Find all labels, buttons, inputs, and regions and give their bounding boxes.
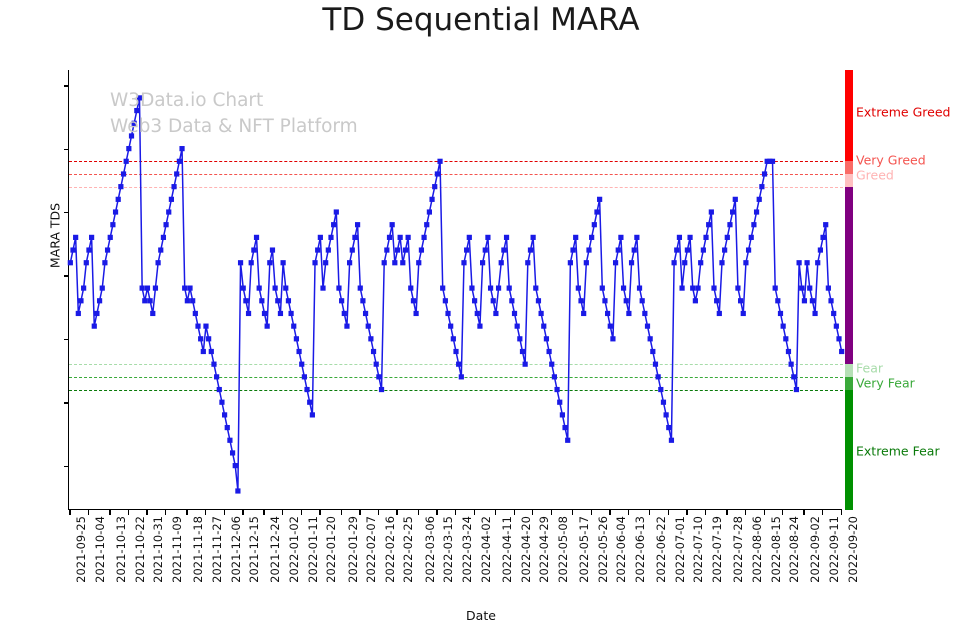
x-tick-label: 2022-08-06 bbox=[750, 516, 764, 583]
data-point-marker bbox=[749, 235, 754, 240]
data-point-marker bbox=[533, 286, 538, 291]
data-point-marker bbox=[632, 247, 637, 252]
data-point-marker bbox=[520, 349, 525, 354]
plot-inner: W3Data.io Chart Web3 Data & NFT Platform bbox=[69, 70, 842, 509]
data-point-marker bbox=[76, 311, 81, 316]
x-tick-label: 2021-11-09 bbox=[170, 516, 184, 583]
sentiment-label-very-fear: Very Fear bbox=[856, 376, 915, 391]
data-point-marker bbox=[485, 235, 490, 240]
page-title: TD Sequential MARA bbox=[0, 2, 962, 38]
data-point-marker bbox=[546, 349, 551, 354]
data-point-marker bbox=[326, 247, 331, 252]
x-tick-label: 2021-12-24 bbox=[268, 516, 282, 583]
data-point-marker bbox=[219, 400, 224, 405]
data-point-marker bbox=[278, 311, 283, 316]
data-point-marker bbox=[304, 387, 309, 392]
data-point-marker bbox=[560, 412, 565, 417]
data-point-marker bbox=[640, 298, 645, 303]
data-point-marker bbox=[815, 260, 820, 265]
data-point-marker bbox=[751, 222, 756, 227]
data-point-marker bbox=[142, 298, 147, 303]
data-point-marker bbox=[350, 247, 355, 252]
data-point-marker bbox=[281, 260, 286, 265]
data-point-marker bbox=[589, 235, 594, 240]
data-point-marker bbox=[251, 247, 256, 252]
x-tick-mark bbox=[146, 510, 147, 515]
colorbar-segment-very-greed bbox=[845, 161, 853, 174]
data-point-marker bbox=[781, 324, 786, 329]
data-point-marker bbox=[682, 260, 687, 265]
data-point-marker bbox=[501, 247, 506, 252]
data-point-marker bbox=[94, 311, 99, 316]
x-tick-mark bbox=[128, 510, 129, 515]
data-point-marker bbox=[549, 362, 554, 367]
data-point-marker bbox=[429, 197, 434, 202]
x-tick-label: 2022-08-15 bbox=[769, 516, 783, 583]
data-point-marker bbox=[145, 286, 150, 291]
data-point-marker bbox=[169, 197, 174, 202]
data-point-marker bbox=[283, 286, 288, 291]
data-point-marker bbox=[616, 247, 621, 252]
x-tick-mark bbox=[686, 510, 687, 515]
data-point-marker bbox=[565, 438, 570, 443]
data-point-marker bbox=[823, 222, 828, 227]
data-point-marker bbox=[233, 463, 238, 468]
data-point-marker bbox=[525, 260, 530, 265]
x-tick-label: 2022-01-11 bbox=[306, 516, 320, 583]
x-tick-mark bbox=[224, 510, 225, 515]
data-point-marker bbox=[440, 286, 445, 291]
data-point-marker bbox=[717, 311, 722, 316]
data-point-marker bbox=[472, 298, 477, 303]
x-tick-mark bbox=[628, 510, 629, 515]
x-tick-label: 2022-02-07 bbox=[364, 516, 378, 583]
x-tick-label: 2021-12-06 bbox=[229, 516, 243, 583]
data-point-marker bbox=[642, 311, 647, 316]
data-point-marker bbox=[315, 247, 320, 252]
data-point-marker bbox=[395, 247, 400, 252]
data-point-marker bbox=[754, 209, 759, 214]
data-point-marker bbox=[451, 336, 456, 341]
data-point-marker bbox=[480, 260, 485, 265]
x-tick-label: 2022-09-11 bbox=[827, 516, 841, 583]
data-point-marker bbox=[666, 425, 671, 430]
data-point-marker bbox=[70, 247, 75, 252]
data-point-marker bbox=[677, 235, 682, 240]
tds-line-series bbox=[69, 70, 843, 510]
x-tick-label: 2021-09-25 bbox=[74, 516, 88, 583]
data-point-marker bbox=[382, 260, 387, 265]
data-point-marker bbox=[775, 298, 780, 303]
data-point-marker bbox=[424, 222, 429, 227]
data-point-marker bbox=[432, 184, 437, 189]
data-point-marker bbox=[288, 311, 293, 316]
sentiment-label-fear: Fear bbox=[856, 361, 883, 376]
colorbar-segment-very-fear bbox=[845, 377, 853, 390]
x-tick-mark bbox=[822, 510, 823, 515]
data-point-marker bbox=[461, 260, 466, 265]
data-point-marker bbox=[727, 222, 732, 227]
data-point-marker bbox=[230, 450, 235, 455]
colorbar-segment-extreme-fear bbox=[845, 390, 853, 510]
data-point-marker bbox=[719, 260, 724, 265]
data-point-marker bbox=[161, 235, 166, 240]
data-point-marker bbox=[656, 374, 661, 379]
x-tick-label: 2021-11-18 bbox=[191, 516, 205, 583]
data-point-marker bbox=[153, 286, 158, 291]
data-point-marker bbox=[336, 286, 341, 291]
data-point-marker bbox=[523, 362, 528, 367]
x-tick-mark bbox=[282, 510, 283, 515]
data-point-marker bbox=[791, 374, 796, 379]
data-point-marker bbox=[507, 286, 512, 291]
x-tick-label: 2021-10-31 bbox=[151, 516, 165, 583]
data-point-marker bbox=[126, 146, 131, 151]
data-point-marker bbox=[512, 311, 517, 316]
data-point-marker bbox=[539, 311, 544, 316]
data-point-marker bbox=[374, 362, 379, 367]
data-point-marker bbox=[488, 286, 493, 291]
data-point-marker bbox=[177, 159, 182, 164]
data-point-marker bbox=[687, 235, 692, 240]
data-point-marker bbox=[600, 286, 605, 291]
data-point-marker bbox=[363, 311, 368, 316]
x-tick-label: 2021-10-04 bbox=[93, 516, 107, 583]
data-point-marker bbox=[92, 324, 97, 329]
data-point-marker bbox=[568, 260, 573, 265]
data-point-marker bbox=[398, 235, 403, 240]
x-tick-mark bbox=[109, 510, 110, 515]
x-tick-label: 2021-10-22 bbox=[133, 516, 147, 583]
data-point-marker bbox=[610, 336, 615, 341]
x-tick-mark bbox=[745, 510, 746, 515]
data-point-marker bbox=[352, 235, 357, 240]
data-point-marker bbox=[541, 324, 546, 329]
data-point-marker bbox=[493, 311, 498, 316]
data-point-marker bbox=[360, 298, 365, 303]
data-point-marker bbox=[634, 235, 639, 240]
data-point-marker bbox=[86, 247, 91, 252]
data-point-marker bbox=[371, 349, 376, 354]
data-point-marker bbox=[669, 438, 674, 443]
data-point-marker bbox=[618, 235, 623, 240]
x-tick-mark bbox=[726, 510, 727, 515]
data-point-marker bbox=[738, 298, 743, 303]
data-point-marker bbox=[597, 197, 602, 202]
data-point-marker bbox=[544, 336, 549, 341]
data-point-marker bbox=[453, 349, 458, 354]
data-point-marker bbox=[437, 159, 442, 164]
data-point-marker bbox=[807, 286, 812, 291]
data-point-marker bbox=[273, 286, 278, 291]
data-point-marker bbox=[187, 286, 192, 291]
data-point-marker bbox=[741, 311, 746, 316]
data-point-marker bbox=[435, 171, 440, 176]
data-point-marker bbox=[182, 286, 187, 291]
x-tick-label: 2022-07-28 bbox=[731, 516, 745, 583]
data-point-marker bbox=[267, 260, 272, 265]
data-point-marker bbox=[384, 247, 389, 252]
data-point-marker bbox=[594, 209, 599, 214]
x-tick-mark bbox=[186, 510, 187, 515]
data-point-marker bbox=[448, 324, 453, 329]
x-tick-mark bbox=[532, 510, 533, 515]
data-point-marker bbox=[786, 349, 791, 354]
data-point-marker bbox=[613, 260, 618, 265]
data-point-marker bbox=[674, 247, 679, 252]
data-point-marker bbox=[148, 298, 153, 303]
data-point-marker bbox=[735, 286, 740, 291]
x-tick-mark bbox=[803, 510, 804, 515]
x-tick-label: 2022-01-29 bbox=[346, 516, 360, 583]
data-point-marker bbox=[134, 108, 139, 113]
x-tick-label: 2022-01-02 bbox=[287, 516, 301, 583]
x-tick-label: 2021-10-13 bbox=[114, 516, 128, 583]
data-point-marker bbox=[368, 336, 373, 341]
data-point-marker bbox=[706, 222, 711, 227]
data-point-marker bbox=[509, 298, 514, 303]
data-point-marker bbox=[116, 197, 121, 202]
x-tick-label: 2021-11-27 bbox=[210, 516, 224, 583]
data-point-marker bbox=[174, 171, 179, 176]
data-point-marker bbox=[262, 311, 267, 316]
data-point-marker bbox=[581, 311, 586, 316]
x-tick-label: 2022-02-16 bbox=[383, 516, 397, 583]
data-point-marker bbox=[496, 286, 501, 291]
data-point-marker bbox=[586, 247, 591, 252]
x-tick-mark bbox=[319, 510, 320, 515]
data-point-marker bbox=[770, 159, 775, 164]
data-point-marker bbox=[491, 298, 496, 303]
data-point-marker bbox=[291, 324, 296, 329]
data-point-marker bbox=[648, 336, 653, 341]
x-tick-label: 2022-06-04 bbox=[614, 516, 628, 583]
data-point-marker bbox=[650, 349, 655, 354]
data-point-marker bbox=[238, 260, 243, 265]
data-point-marker bbox=[836, 336, 841, 341]
sentiment-label-very-greed: Very Greed bbox=[856, 153, 926, 168]
data-point-marker bbox=[89, 235, 94, 240]
x-tick-label: 2022-06-13 bbox=[633, 516, 647, 583]
data-point-marker bbox=[722, 247, 727, 252]
data-point-marker bbox=[531, 235, 536, 240]
data-point-marker bbox=[342, 311, 347, 316]
data-point-marker bbox=[804, 260, 809, 265]
data-point-marker bbox=[243, 298, 248, 303]
data-point-marker bbox=[653, 362, 658, 367]
data-point-marker bbox=[124, 159, 129, 164]
data-point-marker bbox=[701, 247, 706, 252]
data-point-marker bbox=[379, 387, 384, 392]
data-point-marker bbox=[108, 235, 113, 240]
data-point-marker bbox=[81, 286, 86, 291]
data-point-marker bbox=[68, 260, 73, 265]
data-point-marker bbox=[773, 286, 778, 291]
data-point-marker bbox=[743, 260, 748, 265]
data-point-marker bbox=[831, 311, 836, 316]
x-tick-mark bbox=[69, 510, 70, 515]
data-point-marker bbox=[839, 349, 844, 354]
data-point-marker bbox=[344, 324, 349, 329]
data-point-marker bbox=[312, 260, 317, 265]
data-point-marker bbox=[206, 336, 211, 341]
plot-area: W3Data.io Chart Web3 Data & NFT Platform bbox=[68, 70, 842, 510]
data-point-marker bbox=[390, 222, 395, 227]
data-point-marker bbox=[214, 374, 219, 379]
data-point-marker bbox=[254, 235, 259, 240]
x-tick-mark bbox=[609, 510, 610, 515]
data-point-marker bbox=[331, 222, 336, 227]
data-point-marker bbox=[403, 247, 408, 252]
data-point-marker bbox=[392, 260, 397, 265]
data-point-marker bbox=[812, 311, 817, 316]
x-tick-mark bbox=[514, 510, 515, 515]
data-point-marker bbox=[421, 235, 426, 240]
x-tick-mark bbox=[764, 510, 765, 515]
x-tick-mark bbox=[242, 510, 243, 515]
data-point-marker bbox=[562, 425, 567, 430]
data-point-marker bbox=[802, 298, 807, 303]
data-point-marker bbox=[195, 324, 200, 329]
data-point-marker bbox=[711, 286, 716, 291]
data-point-marker bbox=[296, 349, 301, 354]
x-tick-label: 2022-07-10 bbox=[691, 516, 705, 583]
data-point-marker bbox=[113, 209, 118, 214]
data-point-marker bbox=[211, 362, 216, 367]
data-point-marker bbox=[246, 311, 251, 316]
data-point-marker bbox=[693, 298, 698, 303]
data-point-marker bbox=[584, 260, 589, 265]
data-point-marker bbox=[608, 324, 613, 329]
data-point-marker bbox=[629, 260, 634, 265]
data-point-marker bbox=[259, 298, 264, 303]
x-tick-mark bbox=[396, 510, 397, 515]
data-point-marker bbox=[709, 209, 714, 214]
data-point-marker bbox=[783, 336, 788, 341]
data-point-marker bbox=[347, 260, 352, 265]
data-point-marker bbox=[414, 311, 419, 316]
x-tick-mark bbox=[782, 510, 783, 515]
data-point-marker bbox=[294, 336, 299, 341]
data-point-marker bbox=[203, 324, 208, 329]
data-point-marker bbox=[757, 197, 762, 202]
data-point-marker bbox=[661, 400, 666, 405]
x-tick-label: 2022-05-08 bbox=[556, 516, 570, 583]
data-point-marker bbox=[536, 298, 541, 303]
x-tick-mark bbox=[668, 510, 669, 515]
data-point-marker bbox=[323, 260, 328, 265]
data-point-marker bbox=[499, 260, 504, 265]
data-point-marker bbox=[645, 324, 650, 329]
x-tick-label: 2022-07-19 bbox=[710, 516, 724, 583]
x-tick-mark bbox=[591, 510, 592, 515]
data-point-marker bbox=[265, 324, 270, 329]
data-point-marker bbox=[416, 260, 421, 265]
data-point-marker bbox=[217, 387, 222, 392]
data-point-marker bbox=[475, 311, 480, 316]
data-point-marker bbox=[241, 286, 246, 291]
data-point-marker bbox=[443, 298, 448, 303]
sentiment-label-extreme-fear: Extreme Fear bbox=[856, 444, 940, 459]
data-point-marker bbox=[156, 260, 161, 265]
data-point-marker bbox=[102, 260, 107, 265]
x-tick-mark bbox=[841, 510, 842, 515]
data-point-marker bbox=[328, 235, 333, 240]
data-point-marker bbox=[137, 95, 142, 100]
x-tick-label: 2021-12-15 bbox=[247, 516, 261, 583]
data-point-marker bbox=[658, 387, 663, 392]
data-point-marker bbox=[198, 336, 203, 341]
data-point-marker bbox=[225, 425, 230, 430]
data-point-marker bbox=[320, 286, 325, 291]
data-point-marker bbox=[762, 171, 767, 176]
data-point-marker bbox=[445, 311, 450, 316]
x-tick-mark bbox=[649, 510, 650, 515]
data-point-marker bbox=[97, 298, 102, 303]
data-point-marker bbox=[406, 235, 411, 240]
data-point-marker bbox=[528, 247, 533, 252]
data-point-marker bbox=[552, 374, 557, 379]
data-point-marker bbox=[419, 247, 424, 252]
data-point-marker bbox=[664, 412, 669, 417]
data-point-marker bbox=[118, 184, 123, 189]
data-point-marker bbox=[222, 412, 227, 417]
data-point-marker bbox=[358, 286, 363, 291]
data-point-marker bbox=[427, 209, 432, 214]
x-tick-label: 2022-09-02 bbox=[808, 516, 822, 583]
data-point-marker bbox=[469, 286, 474, 291]
x-tick-mark bbox=[301, 510, 302, 515]
data-point-marker bbox=[554, 387, 559, 392]
x-tick-label: 2022-04-02 bbox=[479, 516, 493, 583]
x-tick-label: 2022-04-29 bbox=[537, 516, 551, 583]
data-point-marker bbox=[166, 209, 171, 214]
x-tick-mark bbox=[263, 510, 264, 515]
data-point-marker bbox=[235, 488, 240, 493]
data-point-marker bbox=[789, 362, 794, 367]
data-point-marker bbox=[464, 247, 469, 252]
data-point-marker bbox=[570, 247, 575, 252]
x-axis-label: Date bbox=[0, 608, 962, 623]
data-point-marker bbox=[456, 362, 461, 367]
data-point-marker bbox=[355, 222, 360, 227]
data-point-marker bbox=[794, 387, 799, 392]
data-point-marker bbox=[517, 336, 522, 341]
data-point-marker bbox=[201, 349, 206, 354]
data-point-marker bbox=[467, 235, 472, 240]
data-point-marker bbox=[227, 438, 232, 443]
x-tick-label: 2022-02-25 bbox=[401, 516, 415, 583]
data-point-marker bbox=[733, 197, 738, 202]
data-point-marker bbox=[140, 286, 145, 291]
data-point-marker bbox=[257, 286, 262, 291]
data-point-marker bbox=[150, 311, 155, 316]
x-tick-mark bbox=[455, 510, 456, 515]
x-tick-label: 2022-07-01 bbox=[673, 516, 687, 583]
data-point-marker bbox=[690, 286, 695, 291]
data-point-marker bbox=[307, 400, 312, 405]
data-point-marker bbox=[302, 374, 307, 379]
data-point-marker bbox=[190, 298, 195, 303]
data-point-marker bbox=[299, 362, 304, 367]
data-point-marker bbox=[637, 286, 642, 291]
data-point-marker bbox=[828, 298, 833, 303]
data-point-marker bbox=[799, 286, 804, 291]
x-tick-mark bbox=[165, 510, 166, 515]
x-tick-label: 2022-03-24 bbox=[460, 516, 474, 583]
data-point-marker bbox=[797, 260, 802, 265]
x-tick-mark bbox=[572, 510, 573, 515]
